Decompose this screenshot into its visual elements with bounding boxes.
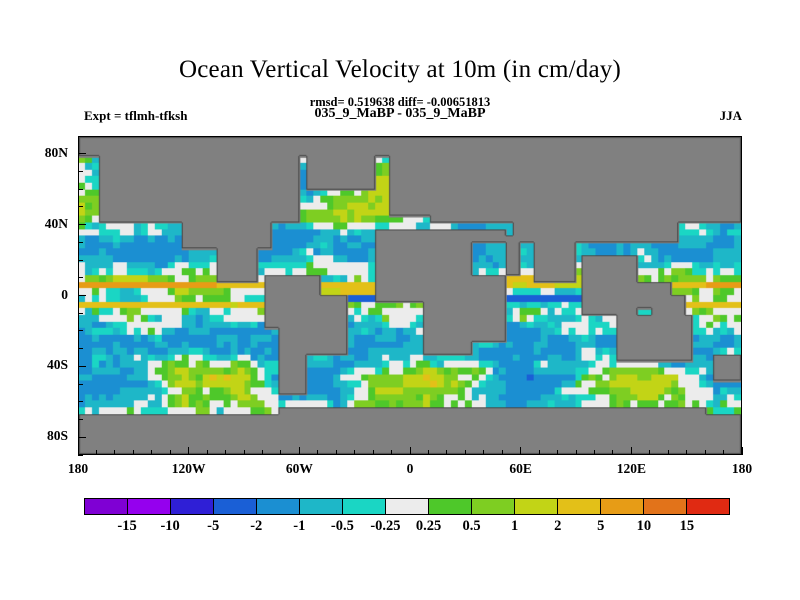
colorbar-tick-label: -5	[207, 518, 219, 535]
colorbar	[84, 498, 730, 515]
x-axis-tick	[742, 447, 743, 455]
colorbar-cell	[644, 499, 687, 514]
ocean-vertical-velocity-heatmap	[79, 137, 741, 454]
colorbar-cell	[601, 499, 644, 514]
x-axis-minor-tick	[151, 450, 152, 455]
x-axis-minor-tick	[373, 450, 374, 455]
x-axis-minor-tick	[280, 450, 281, 455]
x-axis-tick	[631, 447, 632, 455]
y-axis-minor-tick	[78, 348, 83, 349]
colorbar-tick-label: -15	[117, 518, 136, 535]
y-axis-tick	[78, 224, 86, 225]
y-axis-label: 40S	[0, 357, 68, 373]
y-axis-tick	[78, 366, 86, 367]
map-plot-area	[78, 136, 742, 455]
x-axis-minor-tick	[686, 450, 687, 455]
x-axis-minor-tick	[133, 450, 134, 455]
y-axis-minor-tick	[78, 330, 83, 331]
x-axis-label: 120W	[149, 461, 229, 477]
colorbar-tick-label: 0.5	[463, 518, 481, 535]
y-axis-tick	[78, 295, 86, 296]
season-label: JJA	[720, 108, 742, 124]
colorbar-cell	[429, 499, 472, 514]
colorbar-tick-label: -0.5	[331, 518, 354, 535]
x-axis-tick	[188, 447, 189, 455]
x-axis-minor-tick	[668, 450, 669, 455]
x-axis-minor-tick	[465, 450, 466, 455]
y-axis-label: 80S	[0, 428, 68, 444]
colorbar-tick-label: -10	[160, 518, 179, 535]
x-axis-minor-tick	[576, 450, 577, 455]
y-axis-minor-tick	[78, 277, 83, 278]
colorbar-cell	[300, 499, 343, 514]
colorbar-tick-label: 5	[597, 518, 604, 535]
x-axis-minor-tick	[612, 450, 613, 455]
y-axis-minor-tick	[78, 260, 83, 261]
x-axis-label: 0	[370, 461, 450, 477]
colorbar-tick-label: 15	[680, 518, 695, 535]
colorbar-tick-label: 10	[637, 518, 652, 535]
x-axis-label: 180	[702, 461, 782, 477]
x-axis-minor-tick	[539, 450, 540, 455]
x-axis-label: 60E	[481, 461, 561, 477]
colorbar-tick-label: 0.25	[416, 518, 441, 535]
y-axis-tick	[78, 437, 86, 438]
x-axis-minor-tick	[336, 450, 337, 455]
colorbar-tick-label: -1	[293, 518, 305, 535]
x-axis-minor-tick	[262, 450, 263, 455]
x-axis-minor-tick	[207, 450, 208, 455]
y-axis-tick	[78, 153, 86, 154]
x-axis-minor-tick	[428, 450, 429, 455]
x-axis-minor-tick	[317, 450, 318, 455]
y-axis-label: 80N	[0, 145, 68, 161]
colorbar-tick-label: 2	[554, 518, 561, 535]
x-axis-minor-tick	[96, 450, 97, 455]
x-axis-minor-tick	[354, 450, 355, 455]
y-axis-minor-tick	[78, 242, 83, 243]
colorbar-cell	[257, 499, 300, 514]
y-axis-minor-tick	[78, 384, 83, 385]
colorbar-tick-label: -0.25	[370, 518, 400, 535]
x-axis-minor-tick	[723, 450, 724, 455]
x-axis-minor-tick	[705, 450, 706, 455]
y-axis-minor-tick	[78, 171, 83, 172]
colorbar-cell	[128, 499, 171, 514]
y-axis-minor-tick	[78, 136, 83, 137]
x-axis-minor-tick	[649, 450, 650, 455]
y-axis-label: 40N	[0, 216, 68, 232]
x-axis-label: 180	[38, 461, 118, 477]
colorbar-cell	[343, 499, 386, 514]
x-axis-label: 60W	[259, 461, 339, 477]
colorbar-cell	[515, 499, 558, 514]
x-axis-minor-tick	[244, 450, 245, 455]
colorbar-cell	[472, 499, 515, 514]
x-axis-tick	[299, 447, 300, 455]
colorbar-tick-label: -2	[250, 518, 262, 535]
y-axis-minor-tick	[78, 206, 83, 207]
x-axis-minor-tick	[446, 450, 447, 455]
x-axis-minor-tick	[594, 450, 595, 455]
y-axis-minor-tick	[78, 189, 83, 190]
colorbar-cell	[85, 499, 128, 514]
x-axis-minor-tick	[391, 450, 392, 455]
colorbar-cell	[386, 499, 429, 514]
page-title: Ocean Vertical Velocity at 10m (in cm/da…	[0, 56, 800, 84]
x-axis-label: 120E	[591, 461, 671, 477]
y-axis-minor-tick	[78, 455, 83, 456]
y-axis-label: 0	[0, 287, 68, 303]
x-axis-minor-tick	[114, 450, 115, 455]
colorbar-cell	[687, 499, 729, 514]
colorbar-cell	[558, 499, 601, 514]
x-axis-minor-tick	[170, 450, 171, 455]
x-axis-tick	[520, 447, 521, 455]
x-axis-minor-tick	[483, 450, 484, 455]
x-axis-minor-tick	[502, 450, 503, 455]
colorbar-tick-label: 1	[511, 518, 518, 535]
x-axis-tick	[410, 447, 411, 455]
case-label: 035_9_MaBP - 035_9_MaBP	[0, 106, 800, 122]
y-axis-minor-tick	[78, 313, 83, 314]
x-axis-minor-tick	[557, 450, 558, 455]
colorbar-cell	[214, 499, 257, 514]
x-axis-minor-tick	[225, 450, 226, 455]
colorbar-cell	[171, 499, 214, 514]
y-axis-minor-tick	[78, 401, 83, 402]
y-axis-minor-tick	[78, 419, 83, 420]
